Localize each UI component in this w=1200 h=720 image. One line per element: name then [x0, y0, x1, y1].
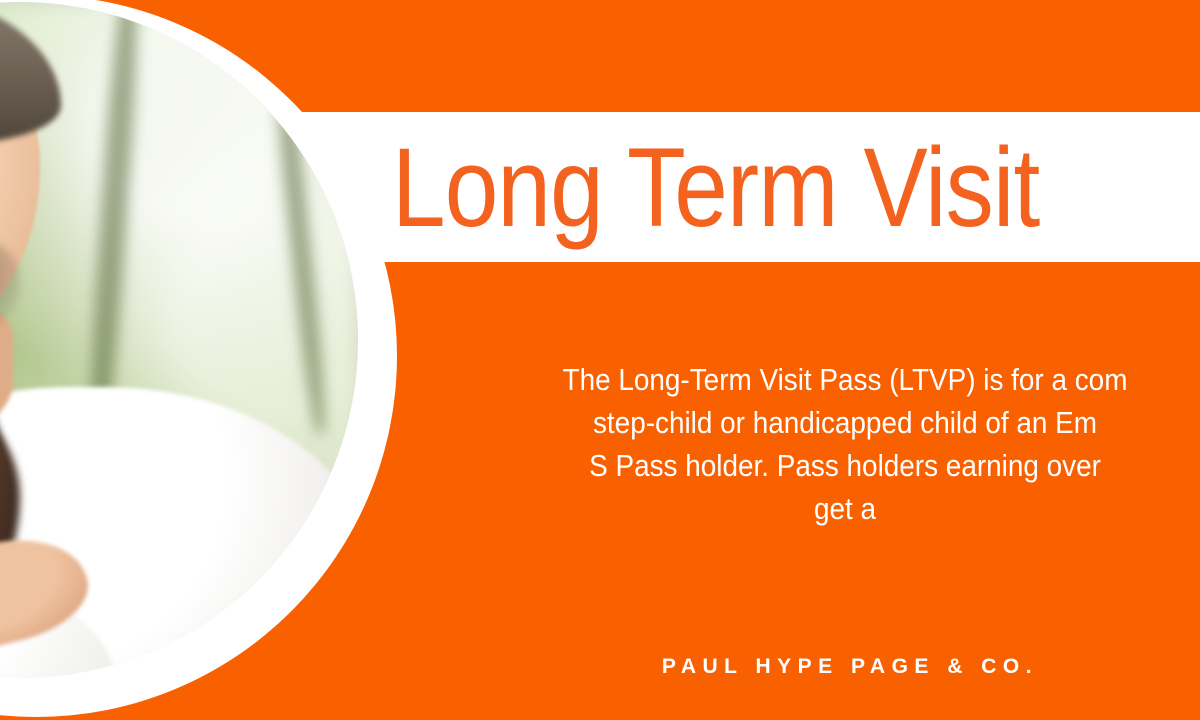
description-line-4: get a — [355, 487, 1200, 530]
page-title: Long Term Visit — [392, 118, 1200, 258]
family-photo — [0, 2, 358, 678]
photo-content — [0, 2, 358, 678]
ltvp-promo-banner: Long Term Visit The Long-Term Visit Pass… — [0, 0, 1200, 720]
description-line-1: The Long-Term Visit Pass (LTVP) is for a… — [355, 358, 1200, 401]
description-line-3: S Pass holder. Pass holders earning over — [355, 444, 1200, 487]
description-paragraph: The Long-Term Visit Pass (LTVP) is for a… — [300, 358, 1200, 530]
description-line-2: step-child or handicapped child of an Em — [355, 401, 1200, 444]
brand-name: PAUL HYPE PAGE & CO. — [300, 655, 1200, 679]
